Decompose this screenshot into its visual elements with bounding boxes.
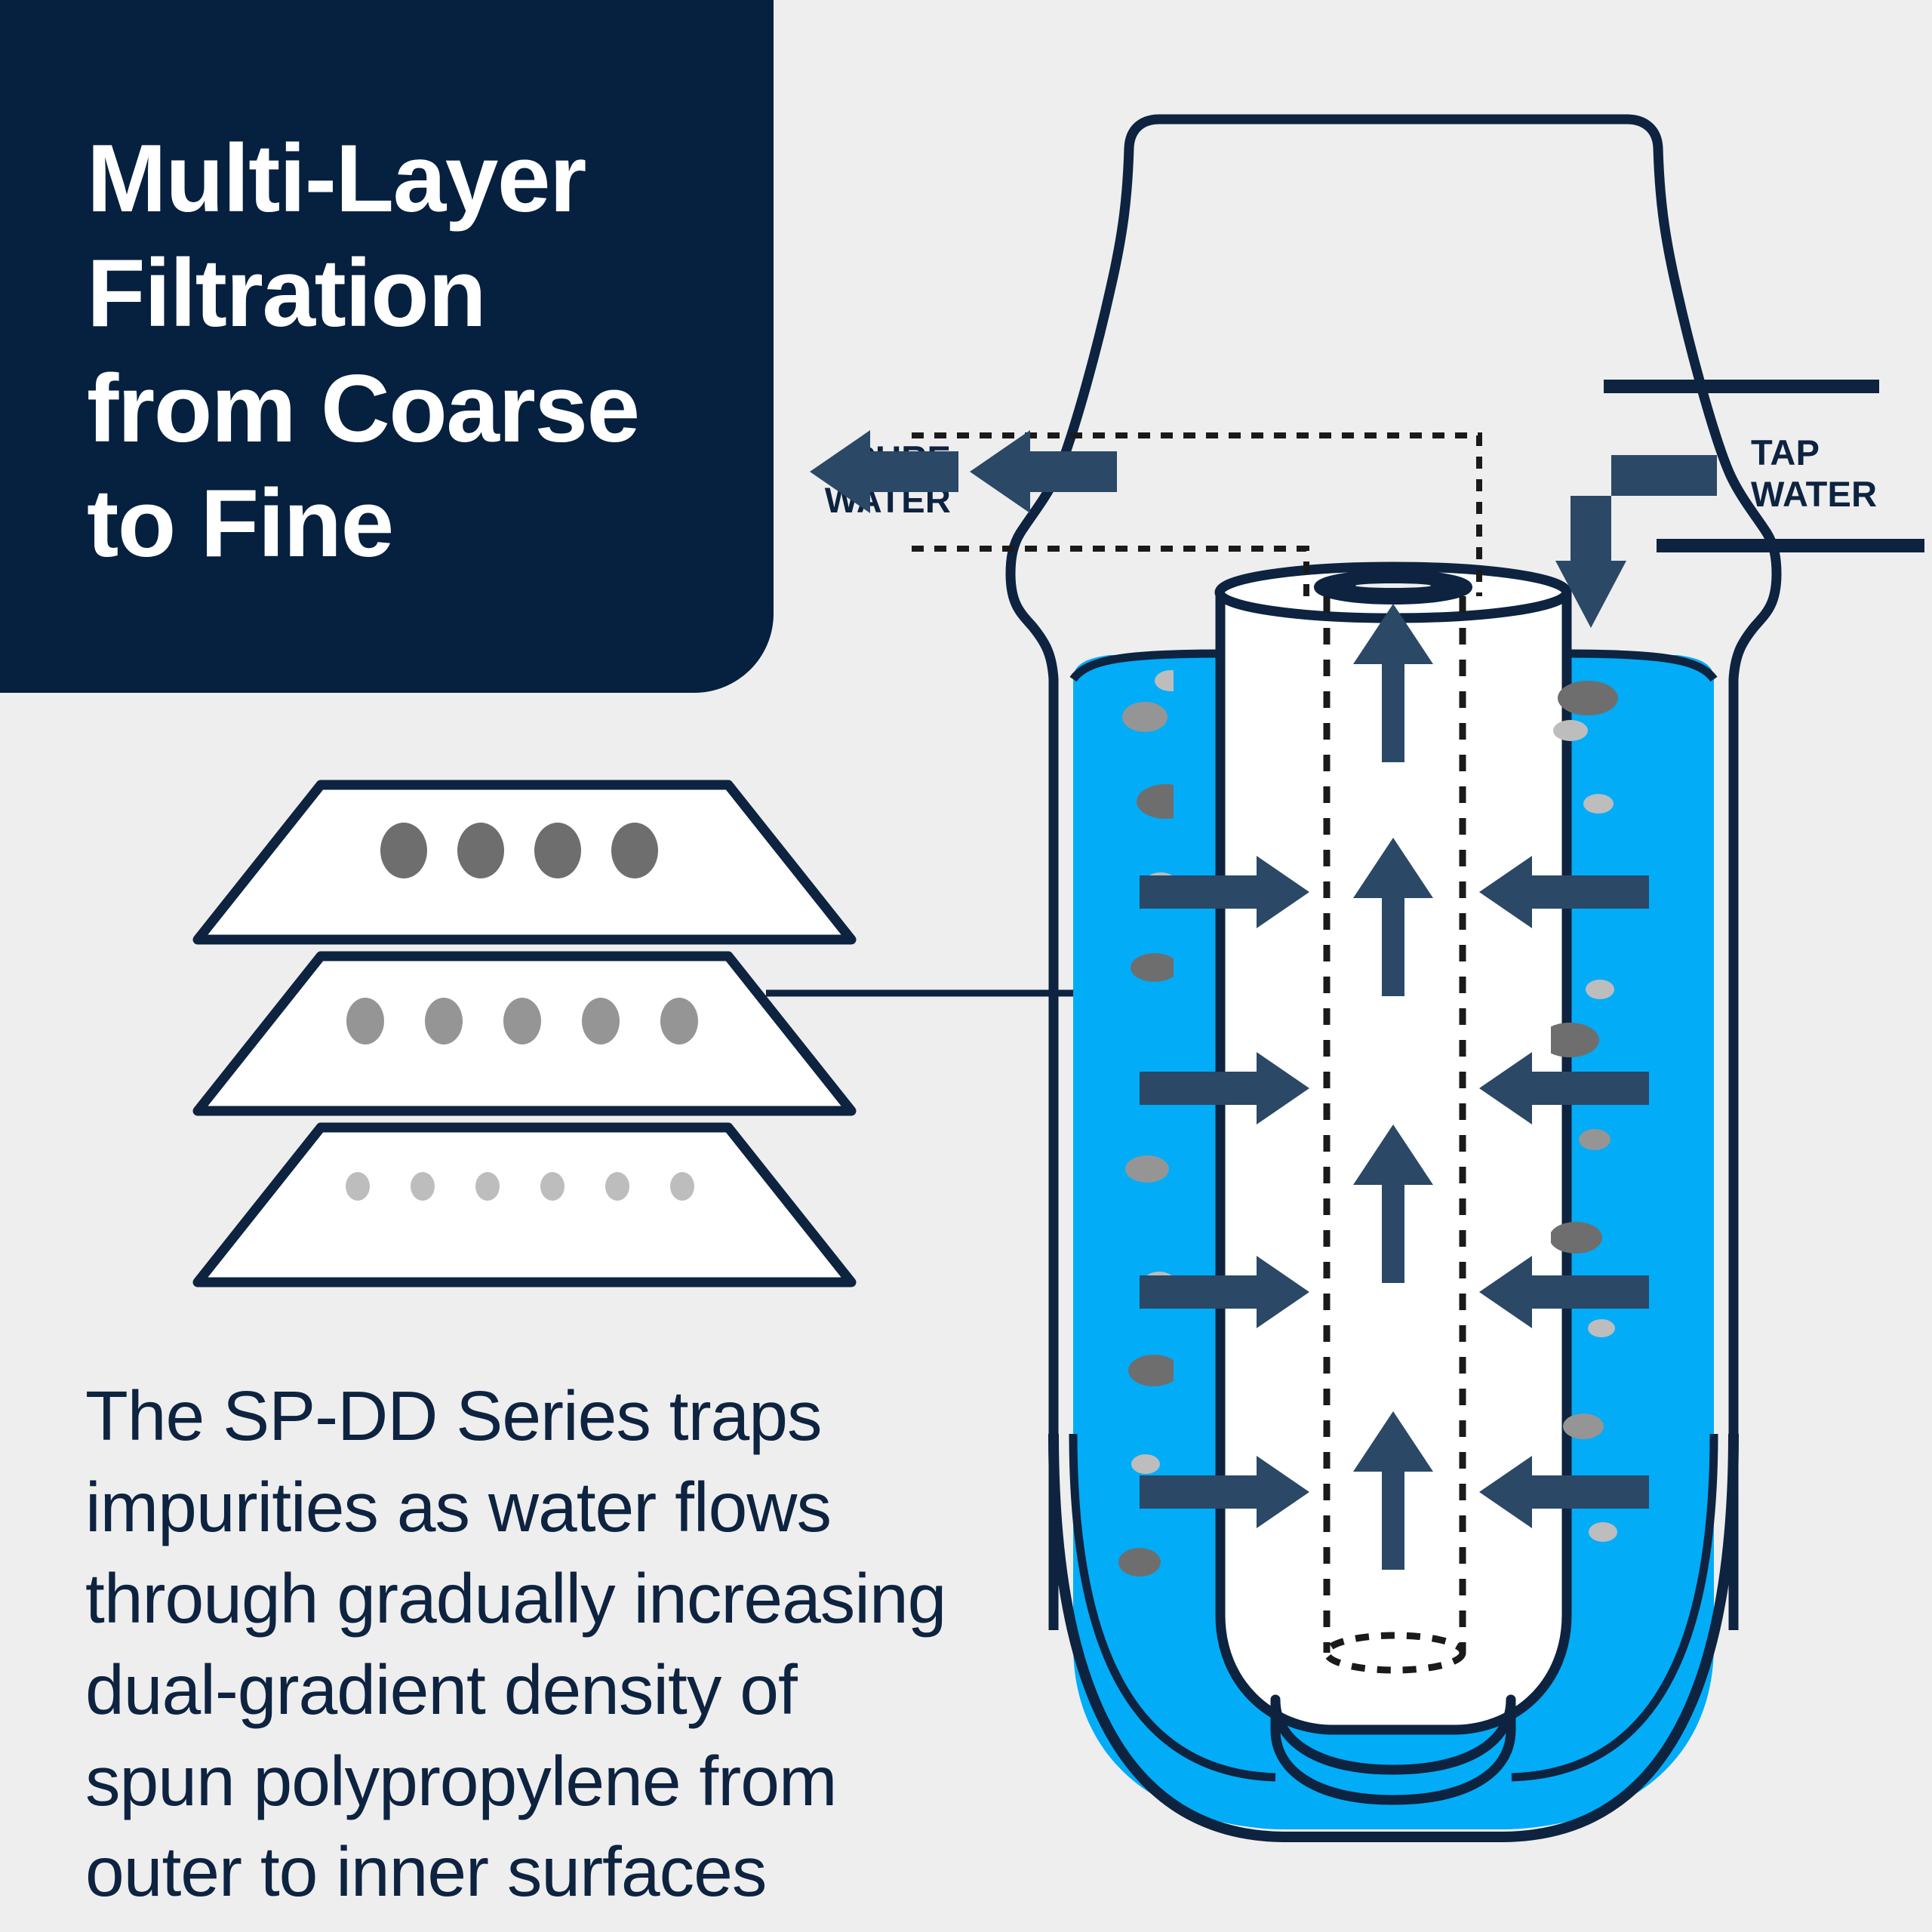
infographic-root: Multi-Layer Filtration from Coarse to Fi… — [0, 0, 1932, 1932]
layer-coarse — [198, 785, 851, 940]
housing-left-wall — [1011, 574, 1054, 1630]
cartridge-core-highlight — [1355, 583, 1431, 588]
layer-fine — [198, 1128, 851, 1282]
filter-housing-group — [810, 119, 1924, 1837]
coarse-layer-shape — [198, 785, 851, 940]
outlet-arrow-outer — [810, 430, 958, 513]
fine-layer-shape — [198, 1128, 851, 1282]
filtration-layers-group — [198, 785, 1099, 1282]
housing-cap-outline — [1011, 119, 1777, 574]
diagram-svg — [0, 0, 1932, 1932]
housing-right-wall — [1734, 574, 1777, 1630]
layer-medium — [198, 956, 851, 1111]
